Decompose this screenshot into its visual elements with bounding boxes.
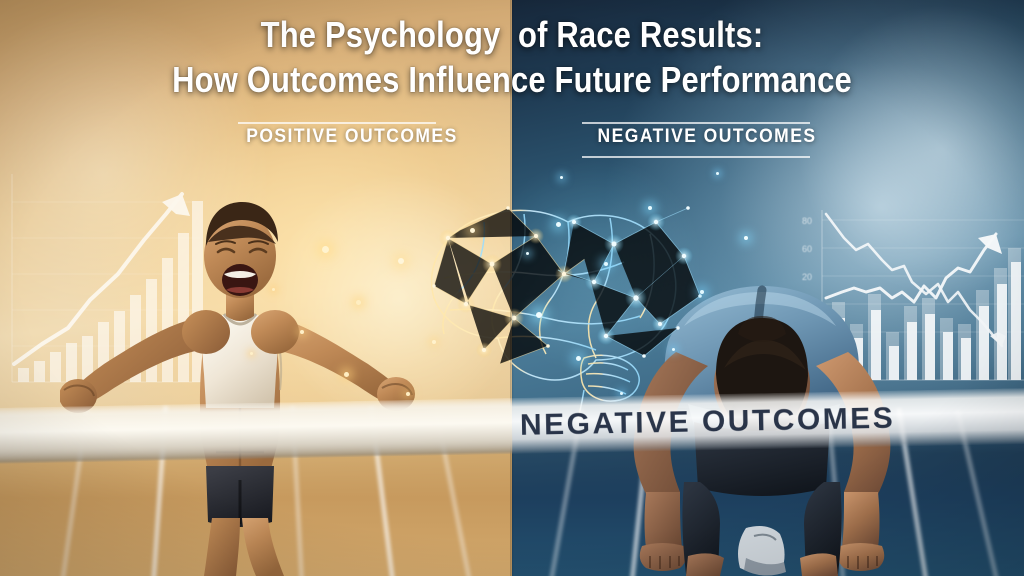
neural-brain-graphic <box>388 178 718 418</box>
positive-label-rule-top <box>238 122 436 124</box>
negative-outcomes-label: NEGATIVE OUTCOMES <box>598 126 817 148</box>
negative-label-rule-top <box>582 122 810 124</box>
celebrating-athlete-figure <box>60 150 420 576</box>
y-tick-60: 60 <box>802 244 812 254</box>
poster-canvas: 80 60 20 <box>0 0 1024 576</box>
positive-outcomes-label: POSITIVE OUTCOMES <box>246 126 458 148</box>
panel-seam-divider <box>510 0 514 576</box>
y-tick-80: 80 <box>802 216 812 226</box>
negative-label-rule-bottom <box>582 156 810 158</box>
